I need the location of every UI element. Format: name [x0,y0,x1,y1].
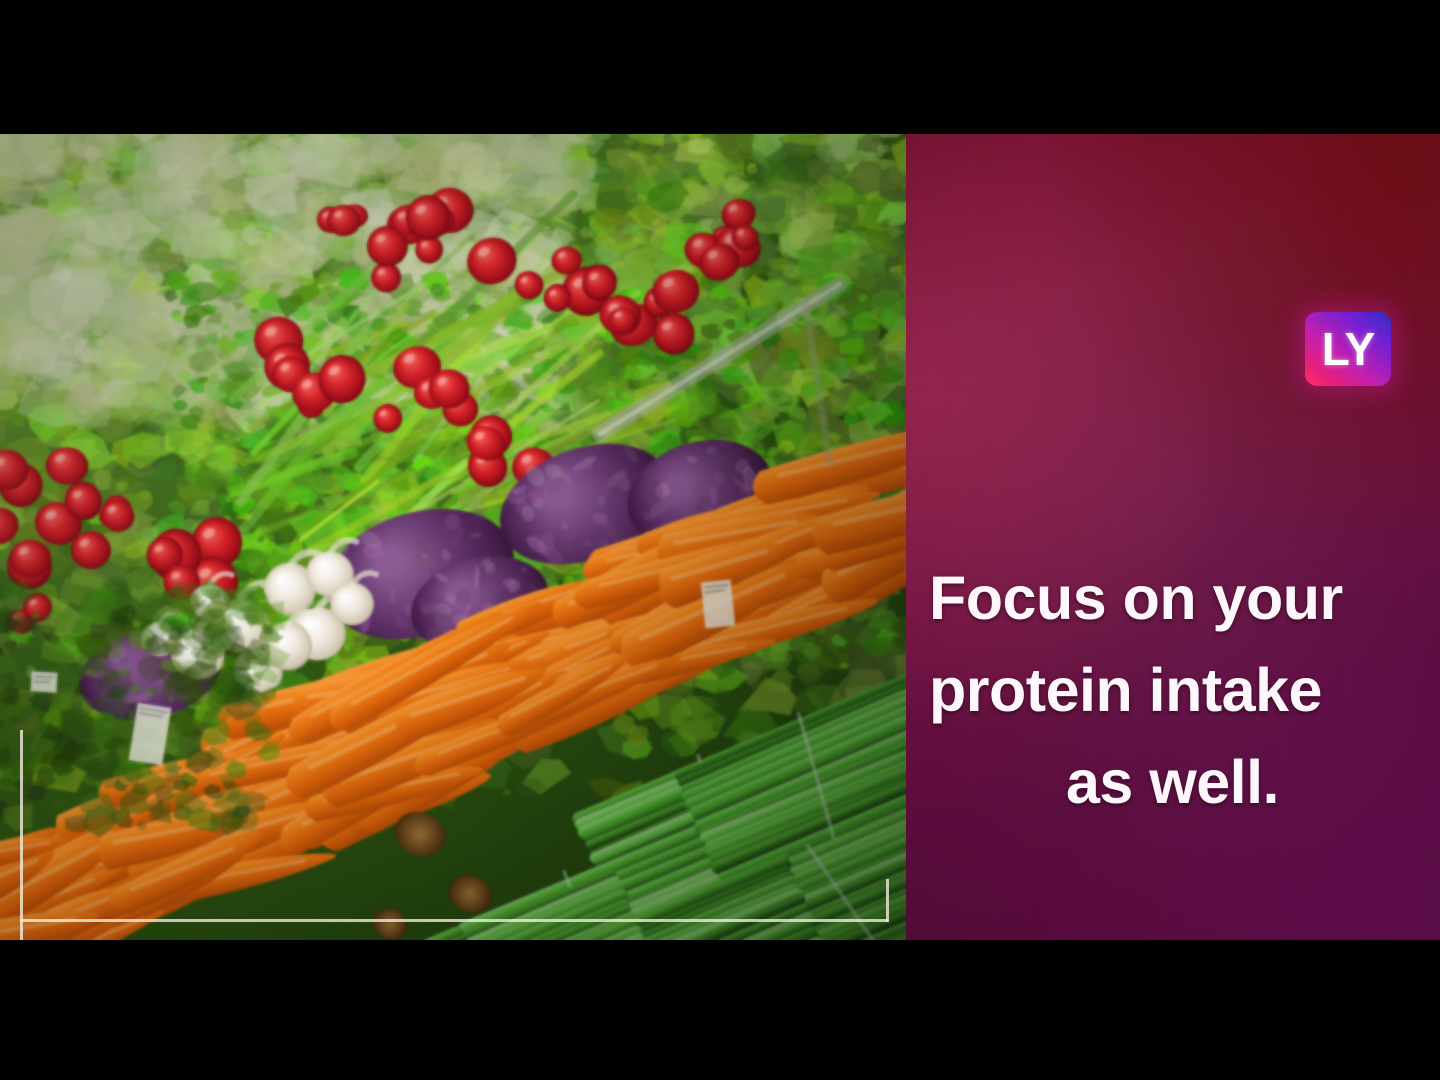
caption-line-3: as well. [915,736,1430,828]
frame-line-vertical-right [886,879,889,922]
vegetable-photo [0,134,906,940]
frame-line-vertical-left [20,730,23,940]
frame-line-horizontal-inner [20,919,888,922]
caption-line-1: Focus on your [929,552,1430,644]
letterbox-bar-top [0,0,1440,134]
video-frame: LY Focus on your protein intake as well. [0,134,1440,940]
latestly-logo[interactable]: LY [1305,312,1391,386]
vegetable-photo-canvas [0,134,906,940]
caption-line-2: protein intake [929,644,1430,736]
caption-block: Focus on your protein intake as well. [915,552,1430,828]
letterbox-bar-bottom [0,940,1440,1080]
video-player-stage: LY Focus on your protein intake as well. [0,0,1440,1080]
latestly-logo-text: LY [1322,326,1375,372]
